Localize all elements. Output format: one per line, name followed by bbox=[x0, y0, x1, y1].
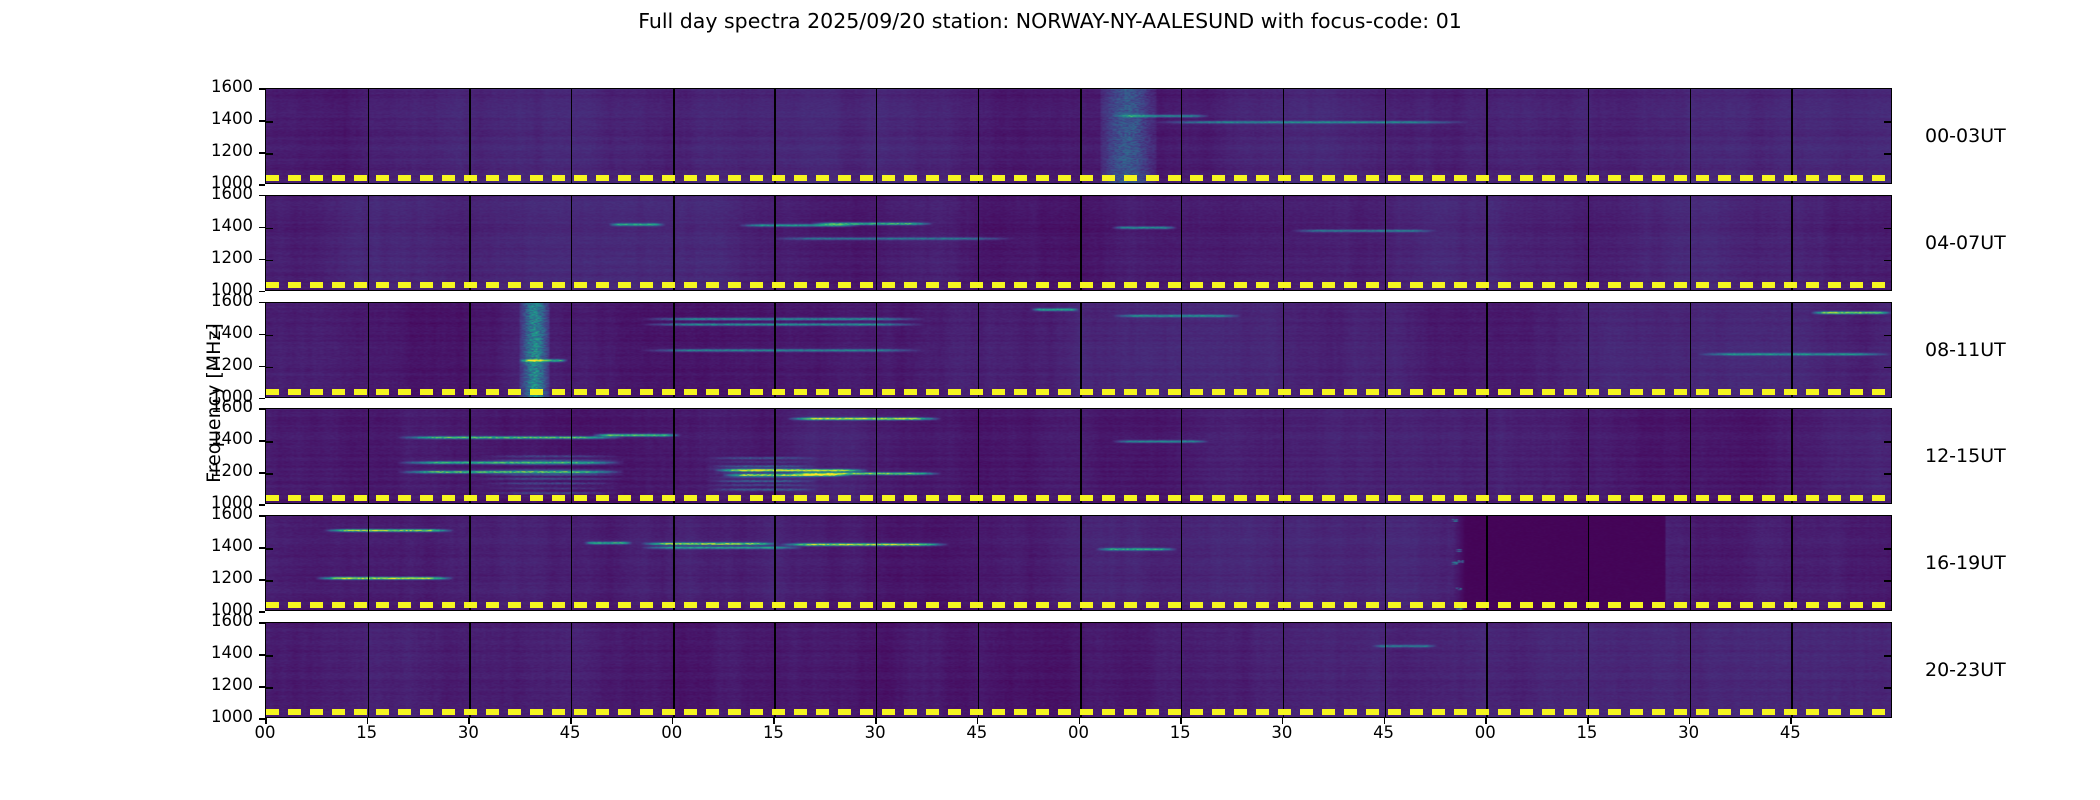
y-tick-mark bbox=[259, 686, 265, 688]
x-tick-mark bbox=[977, 718, 979, 724]
x-tick-mark bbox=[468, 718, 470, 724]
panel-gridline bbox=[876, 303, 877, 397]
spectrogram-panel[interactable] bbox=[265, 515, 1892, 611]
panel-gridline bbox=[368, 623, 369, 717]
panel-gridline bbox=[1690, 409, 1691, 503]
panel-gridline bbox=[673, 623, 675, 717]
y-tick-mark-inner bbox=[1884, 655, 1891, 657]
panel-gridline bbox=[571, 196, 572, 290]
y-tick-mark-inner bbox=[1884, 441, 1891, 443]
panel-gridline bbox=[368, 303, 369, 397]
panel-gridline bbox=[1791, 303, 1792, 397]
panel-gridline bbox=[1283, 409, 1284, 503]
y-tick-mark-inner bbox=[266, 548, 273, 550]
panel-gridline bbox=[1080, 623, 1082, 717]
panel-gridline bbox=[1283, 516, 1284, 610]
panel-gridline bbox=[571, 409, 572, 503]
panel-row-label: 16-19UT bbox=[1925, 552, 2006, 574]
panel-gridline bbox=[368, 196, 369, 290]
panel-gridline bbox=[571, 516, 572, 610]
panel-gridline bbox=[978, 409, 979, 503]
panel-gridline bbox=[774, 409, 775, 503]
panel-gridline bbox=[1690, 303, 1691, 397]
y-tick-mark bbox=[259, 611, 265, 613]
y-tick-label: 1600 bbox=[0, 504, 253, 523]
spectrogram-figure: Full day spectra 2025/09/20 station: NOR… bbox=[0, 0, 2100, 800]
panel-gridline bbox=[1486, 303, 1488, 397]
panel-gridline bbox=[673, 409, 675, 503]
y-tick-mark-inner bbox=[266, 441, 273, 443]
panel-gridline bbox=[1588, 623, 1589, 717]
panel-gridline bbox=[1690, 623, 1691, 717]
panel-gridline bbox=[1385, 516, 1386, 610]
y-tick-label: 1400 bbox=[0, 643, 253, 662]
panel-gridline bbox=[1791, 89, 1792, 183]
x-tick-label: 30 bbox=[865, 723, 886, 742]
x-tick-label: 00 bbox=[1068, 723, 1089, 742]
panel-gridline bbox=[1690, 196, 1691, 290]
y-tick-mark bbox=[259, 398, 265, 400]
panel-row-label: 08-11UT bbox=[1925, 339, 2006, 361]
spectrogram-image bbox=[266, 89, 1891, 183]
y-tick-mark bbox=[259, 440, 265, 442]
panel-gridline bbox=[1690, 516, 1691, 610]
y-tick-mark bbox=[259, 654, 265, 656]
x-tick-mark bbox=[1180, 718, 1182, 724]
y-tick-mark-inner bbox=[1884, 228, 1891, 230]
y-tick-mark bbox=[259, 515, 265, 517]
panel-gridline bbox=[1080, 196, 1082, 290]
y-tick-mark-inner bbox=[266, 367, 273, 369]
x-tick-mark bbox=[672, 718, 674, 724]
spectrogram-image bbox=[266, 623, 1891, 717]
y-tick-label: 1400 bbox=[0, 429, 253, 448]
panel-gridline bbox=[1791, 196, 1792, 290]
panel-gridline bbox=[1080, 89, 1082, 183]
panel-gridline bbox=[978, 89, 979, 183]
y-tick-mark bbox=[259, 504, 265, 506]
y-tick-mark bbox=[259, 259, 265, 261]
panel-gridline bbox=[1385, 196, 1386, 290]
y-tick-mark-inner bbox=[1884, 367, 1891, 369]
panel-gridline bbox=[1588, 89, 1589, 183]
y-tick-mark bbox=[259, 120, 265, 122]
y-tick-mark bbox=[259, 88, 265, 90]
x-tick-mark bbox=[265, 718, 267, 724]
y-tick-label: 1600 bbox=[0, 291, 253, 310]
spectrogram-image bbox=[266, 516, 1891, 610]
x-tick-label: 15 bbox=[356, 723, 377, 742]
baseline-dashed-line bbox=[266, 389, 1891, 395]
x-tick-label: 15 bbox=[1170, 723, 1191, 742]
panel-gridline bbox=[876, 516, 877, 610]
spectrogram-image bbox=[266, 303, 1891, 397]
spectrogram-panel[interactable] bbox=[265, 88, 1892, 184]
panel-gridline bbox=[469, 196, 470, 290]
y-tick-mark bbox=[259, 472, 265, 474]
panel-gridline bbox=[673, 516, 675, 610]
y-tick-mark-inner bbox=[1884, 153, 1891, 155]
y-tick-mark bbox=[259, 152, 265, 154]
y-tick-label: 1200 bbox=[0, 248, 253, 267]
panel-gridline bbox=[1080, 409, 1082, 503]
y-tick-mark bbox=[259, 547, 265, 549]
y-tick-mark bbox=[259, 195, 265, 197]
plot-area bbox=[265, 88, 1892, 718]
panel-gridline bbox=[1385, 623, 1386, 717]
y-tick-mark-inner bbox=[1884, 580, 1891, 582]
panel-gridline bbox=[876, 409, 877, 503]
panel-gridline bbox=[571, 303, 572, 397]
panel-gridline bbox=[1486, 516, 1488, 610]
panel-gridline bbox=[1181, 409, 1182, 503]
x-tick-label: 00 bbox=[1475, 723, 1496, 742]
y-tick-mark-inner bbox=[266, 687, 273, 689]
panel-gridline bbox=[1588, 409, 1589, 503]
y-tick-mark-inner bbox=[1884, 335, 1891, 337]
panel-gridline bbox=[978, 196, 979, 290]
y-tick-mark-inner bbox=[1884, 687, 1891, 689]
panel-gridline bbox=[1385, 409, 1386, 503]
panel-gridline bbox=[1080, 303, 1082, 397]
x-tick-label: 45 bbox=[560, 723, 581, 742]
spectrogram-panel[interactable] bbox=[265, 195, 1892, 291]
spectrogram-image bbox=[266, 196, 1891, 290]
y-tick-mark bbox=[259, 408, 265, 410]
panel-gridline bbox=[368, 89, 369, 183]
panel-gridline bbox=[876, 89, 877, 183]
x-tick-mark bbox=[1384, 718, 1386, 724]
panel-gridline bbox=[774, 89, 775, 183]
panel-gridline bbox=[1385, 303, 1386, 397]
y-tick-mark-inner bbox=[266, 260, 273, 262]
baseline-dashed-line bbox=[266, 709, 1891, 715]
panel-gridline bbox=[469, 409, 470, 503]
panel-gridline bbox=[1181, 89, 1182, 183]
panel-gridline bbox=[1486, 409, 1488, 503]
y-tick-mark-inner bbox=[266, 153, 273, 155]
x-tick-mark bbox=[570, 718, 572, 724]
y-tick-label: 1200 bbox=[0, 568, 253, 587]
y-tick-mark-inner bbox=[1884, 121, 1891, 123]
x-tick-mark bbox=[875, 718, 877, 724]
panel-gridline bbox=[1791, 516, 1792, 610]
panel-gridline bbox=[1690, 89, 1691, 183]
panel-gridline bbox=[1181, 623, 1182, 717]
baseline-dashed-line bbox=[266, 282, 1891, 288]
panel-gridline bbox=[1791, 623, 1792, 717]
x-tick-label: 15 bbox=[763, 723, 784, 742]
x-tick-mark bbox=[1282, 718, 1284, 724]
panel-gridline bbox=[1791, 409, 1792, 503]
y-tick-mark-inner bbox=[266, 473, 273, 475]
panel-gridline bbox=[469, 516, 470, 610]
panel-gridline bbox=[1181, 196, 1182, 290]
y-tick-mark bbox=[259, 302, 265, 304]
panel-row-label: 00-03UT bbox=[1925, 125, 2006, 147]
panel-gridline bbox=[1181, 303, 1182, 397]
panel-gridline bbox=[1283, 623, 1284, 717]
x-tick-label: 30 bbox=[458, 723, 479, 742]
baseline-dashed-line bbox=[266, 495, 1891, 501]
x-tick-mark bbox=[1790, 718, 1792, 724]
y-tick-mark-inner bbox=[266, 580, 273, 582]
panel-gridline bbox=[469, 303, 470, 397]
y-tick-label: 1600 bbox=[0, 77, 253, 96]
panel-gridline bbox=[978, 623, 979, 717]
x-tick-label: 00 bbox=[255, 723, 276, 742]
panel-row-label: 04-07UT bbox=[1925, 232, 2006, 254]
y-tick-mark-inner bbox=[1884, 260, 1891, 262]
spectrogram-panel[interactable] bbox=[265, 408, 1892, 504]
y-tick-mark-inner bbox=[266, 228, 273, 230]
panel-gridline bbox=[1486, 89, 1488, 183]
panel-gridline bbox=[469, 89, 470, 183]
panel-gridline bbox=[1588, 516, 1589, 610]
page-title: Full day spectra 2025/09/20 station: NOR… bbox=[0, 9, 2100, 33]
y-tick-label: 1200 bbox=[0, 141, 253, 160]
x-tick-mark bbox=[1485, 718, 1487, 724]
x-tick-label: 45 bbox=[1373, 723, 1394, 742]
panel-gridline bbox=[673, 196, 675, 290]
panel-gridline bbox=[774, 623, 775, 717]
y-tick-label: 1200 bbox=[0, 461, 253, 480]
panel-gridline bbox=[673, 303, 675, 397]
panel-gridline bbox=[1283, 89, 1284, 183]
y-tick-mark-inner bbox=[266, 121, 273, 123]
x-tick-mark bbox=[1079, 718, 1081, 724]
spectrogram-image bbox=[266, 409, 1891, 503]
spectrogram-panel[interactable] bbox=[265, 302, 1892, 398]
y-tick-mark bbox=[259, 622, 265, 624]
panel-gridline bbox=[774, 516, 775, 610]
y-tick-mark bbox=[259, 366, 265, 368]
baseline-dashed-line bbox=[266, 602, 1891, 608]
panel-gridline bbox=[368, 516, 369, 610]
x-tick-label: 00 bbox=[661, 723, 682, 742]
y-tick-mark bbox=[259, 334, 265, 336]
y-tick-mark-inner bbox=[266, 655, 273, 657]
panel-gridline bbox=[469, 623, 470, 717]
panel-row-label: 20-23UT bbox=[1925, 659, 2006, 681]
x-tick-label: 45 bbox=[966, 723, 987, 742]
panel-gridline bbox=[978, 516, 979, 610]
panel-gridline bbox=[1080, 516, 1082, 610]
panel-gridline bbox=[571, 623, 572, 717]
x-tick-label: 15 bbox=[1576, 723, 1597, 742]
x-tick-mark bbox=[1689, 718, 1691, 724]
panel-row-label: 12-15UT bbox=[1925, 445, 2006, 467]
spectrogram-panel[interactable] bbox=[265, 622, 1892, 718]
y-tick-label: 1000 bbox=[0, 707, 253, 726]
x-tick-mark bbox=[1587, 718, 1589, 724]
x-tick-mark bbox=[773, 718, 775, 724]
x-tick-mark bbox=[367, 718, 369, 724]
panel-gridline bbox=[1588, 196, 1589, 290]
panel-gridline bbox=[876, 623, 877, 717]
panel-gridline bbox=[1283, 196, 1284, 290]
x-tick-label: 30 bbox=[1271, 723, 1292, 742]
y-tick-mark-inner bbox=[1884, 548, 1891, 550]
panel-gridline bbox=[1486, 196, 1488, 290]
y-tick-label: 1400 bbox=[0, 536, 253, 555]
panel-gridline bbox=[368, 409, 369, 503]
panel-gridline bbox=[774, 196, 775, 290]
y-tick-label: 1400 bbox=[0, 216, 253, 235]
panel-gridline bbox=[673, 89, 675, 183]
y-tick-mark bbox=[259, 184, 265, 186]
y-tick-mark bbox=[259, 291, 265, 293]
y-tick-mark bbox=[259, 227, 265, 229]
y-tick-mark bbox=[259, 579, 265, 581]
panel-gridline bbox=[1181, 516, 1182, 610]
y-tick-mark-inner bbox=[1884, 473, 1891, 475]
y-tick-label: 1400 bbox=[0, 323, 253, 342]
y-tick-mark-inner bbox=[266, 335, 273, 337]
panel-gridline bbox=[1486, 623, 1488, 717]
panel-gridline bbox=[1283, 303, 1284, 397]
panel-gridline bbox=[1385, 89, 1386, 183]
y-tick-label: 1400 bbox=[0, 109, 253, 128]
x-tick-label: 45 bbox=[1780, 723, 1801, 742]
panel-gridline bbox=[774, 303, 775, 397]
panel-gridline bbox=[876, 196, 877, 290]
y-tick-label: 1200 bbox=[0, 675, 253, 694]
y-tick-label: 1600 bbox=[0, 184, 253, 203]
y-tick-label: 1200 bbox=[0, 355, 253, 374]
baseline-dashed-line bbox=[266, 175, 1891, 181]
panel-gridline bbox=[571, 89, 572, 183]
panel-gridline bbox=[1588, 303, 1589, 397]
panel-gridline bbox=[978, 303, 979, 397]
x-tick-label: 30 bbox=[1678, 723, 1699, 742]
y-tick-label: 1600 bbox=[0, 397, 253, 416]
y-tick-label: 1600 bbox=[0, 611, 253, 630]
